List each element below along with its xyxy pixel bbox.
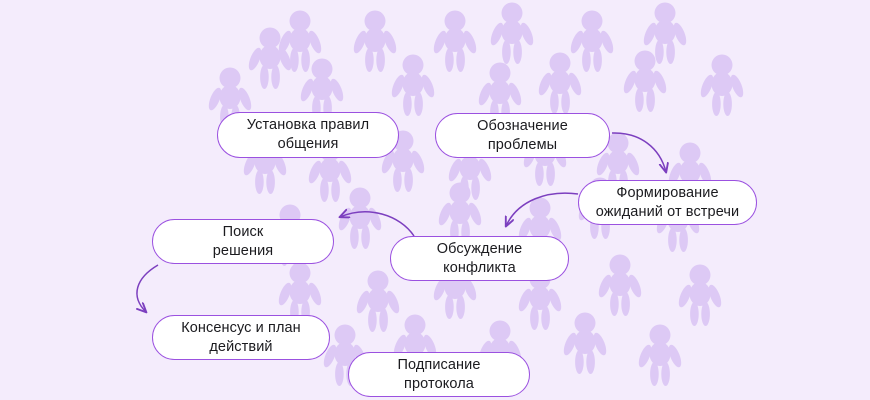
arrow-expectations-to-discussion xyxy=(506,193,578,226)
node-label: Установка правил общения xyxy=(247,116,369,154)
node-label: Обсуждение конфликта xyxy=(437,240,522,278)
node-label-line2: действий xyxy=(181,338,301,357)
node-label: Обозначение проблемы xyxy=(477,117,568,155)
node-label-line2: протокола xyxy=(397,375,480,394)
node-podpisanie-protokola[interactable]: Подписание протокола xyxy=(348,352,530,397)
node-ustanovka-pravil-obscheniya[interactable]: Установка правил общения xyxy=(217,112,399,158)
node-label-line1: Формирование xyxy=(596,184,740,203)
node-konsensus-i-plan-deystviy[interactable]: Консенсус и план действий xyxy=(152,315,330,360)
node-poisk-resheniya[interactable]: Поиск решения xyxy=(152,219,334,264)
arrow-discussion-to-search xyxy=(340,212,414,236)
node-label-line1: Обсуждение xyxy=(437,240,522,259)
node-obsuzhdenie-konflikta[interactable]: Обсуждение конфликта xyxy=(390,236,569,281)
node-label: Поиск решения xyxy=(213,223,273,261)
node-label: Консенсус и план действий xyxy=(181,319,301,357)
node-label-line2: проблемы xyxy=(477,136,568,155)
node-label: Формирование ожиданий от встречи xyxy=(596,184,740,222)
node-label-line1: Обозначение xyxy=(477,117,568,136)
node-label-line2: решения xyxy=(213,242,273,261)
node-oboznachenie-problemy[interactable]: Обозначение проблемы xyxy=(435,113,610,158)
node-formirovanie-ozhidaniy-ot-vstrechi[interactable]: Формирование ожиданий от встречи xyxy=(578,180,757,225)
arrow-problem-to-expectations xyxy=(612,133,666,172)
node-label-line1: Установка правил xyxy=(247,116,369,135)
node-label-line2: ожиданий от встречи xyxy=(596,203,740,222)
node-label-line2: общения xyxy=(247,135,369,154)
node-label-line1: Подписание xyxy=(397,356,480,375)
node-label-line2: конфликта xyxy=(437,259,522,278)
node-label: Подписание протокола xyxy=(397,356,480,394)
node-label-line1: Консенсус и план xyxy=(181,319,301,338)
node-label-line1: Поиск xyxy=(213,223,273,242)
arrow-search-to-consensus xyxy=(137,265,158,312)
diagram-canvas: Установка правил общения Обозначение про… xyxy=(0,0,870,400)
